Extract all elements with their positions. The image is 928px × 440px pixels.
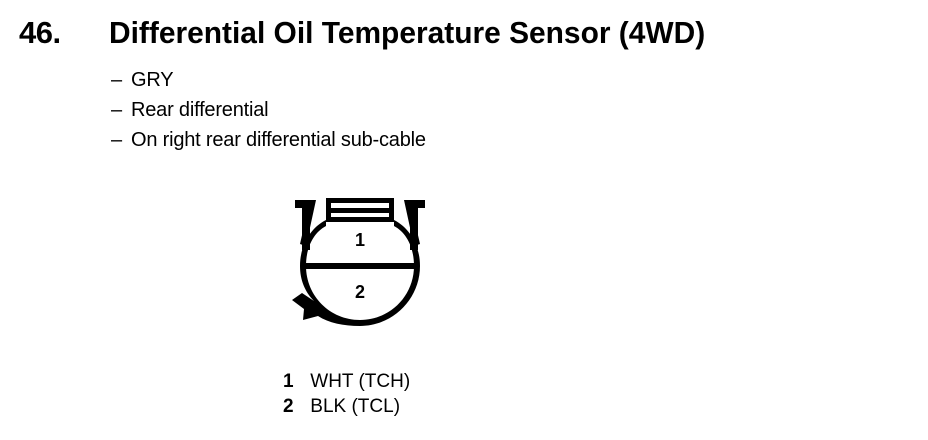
attribute-wire-color: GRY: [131, 65, 173, 95]
list-item: – On right rear differential sub-cable: [111, 125, 711, 155]
dash-icon: –: [111, 95, 131, 125]
legend-row: 2 BLK (TCL): [283, 394, 583, 419]
list-item: – GRY: [111, 65, 711, 95]
legend-pin-label: BLK (TCL): [310, 394, 400, 419]
connector-svg: 1 2: [280, 188, 440, 333]
connector-diagram: 1 2: [280, 188, 440, 333]
pin-number-1: 1: [355, 230, 365, 250]
legend-pin-label: WHT (TCH): [310, 369, 410, 394]
latch-side-right-icon: [389, 198, 394, 222]
attribute-list: – GRY – Rear differential – On right rea…: [111, 65, 711, 155]
legend-pin-number: 2: [283, 394, 305, 419]
pin-legend: 1 WHT (TCH) 2 BLK (TCL): [283, 369, 583, 419]
pin-number-2: 2: [355, 282, 365, 302]
legend-row: 1 WHT (TCH): [283, 369, 583, 394]
section-number: 46.: [19, 14, 61, 52]
latch-side-left-icon: [326, 198, 331, 222]
latch-rib-bottom-icon: [326, 217, 394, 222]
legend-pin-number: 1: [283, 369, 305, 394]
latch-rib-top-icon: [326, 198, 394, 203]
dash-icon: –: [111, 125, 131, 155]
page-title: Differential Oil Temperature Sensor (4WD…: [109, 14, 705, 52]
attribute-cable-detail: On right rear differential sub-cable: [131, 125, 426, 155]
pin-chamber-divider-icon: [301, 263, 419, 269]
latch-rib-middle-icon: [326, 208, 394, 213]
attribute-location: Rear differential: [131, 95, 268, 125]
dash-icon: –: [111, 65, 131, 95]
list-item: – Rear differential: [111, 95, 711, 125]
page-heading: 46. Differential Oil Temperature Sensor …: [0, 14, 928, 54]
